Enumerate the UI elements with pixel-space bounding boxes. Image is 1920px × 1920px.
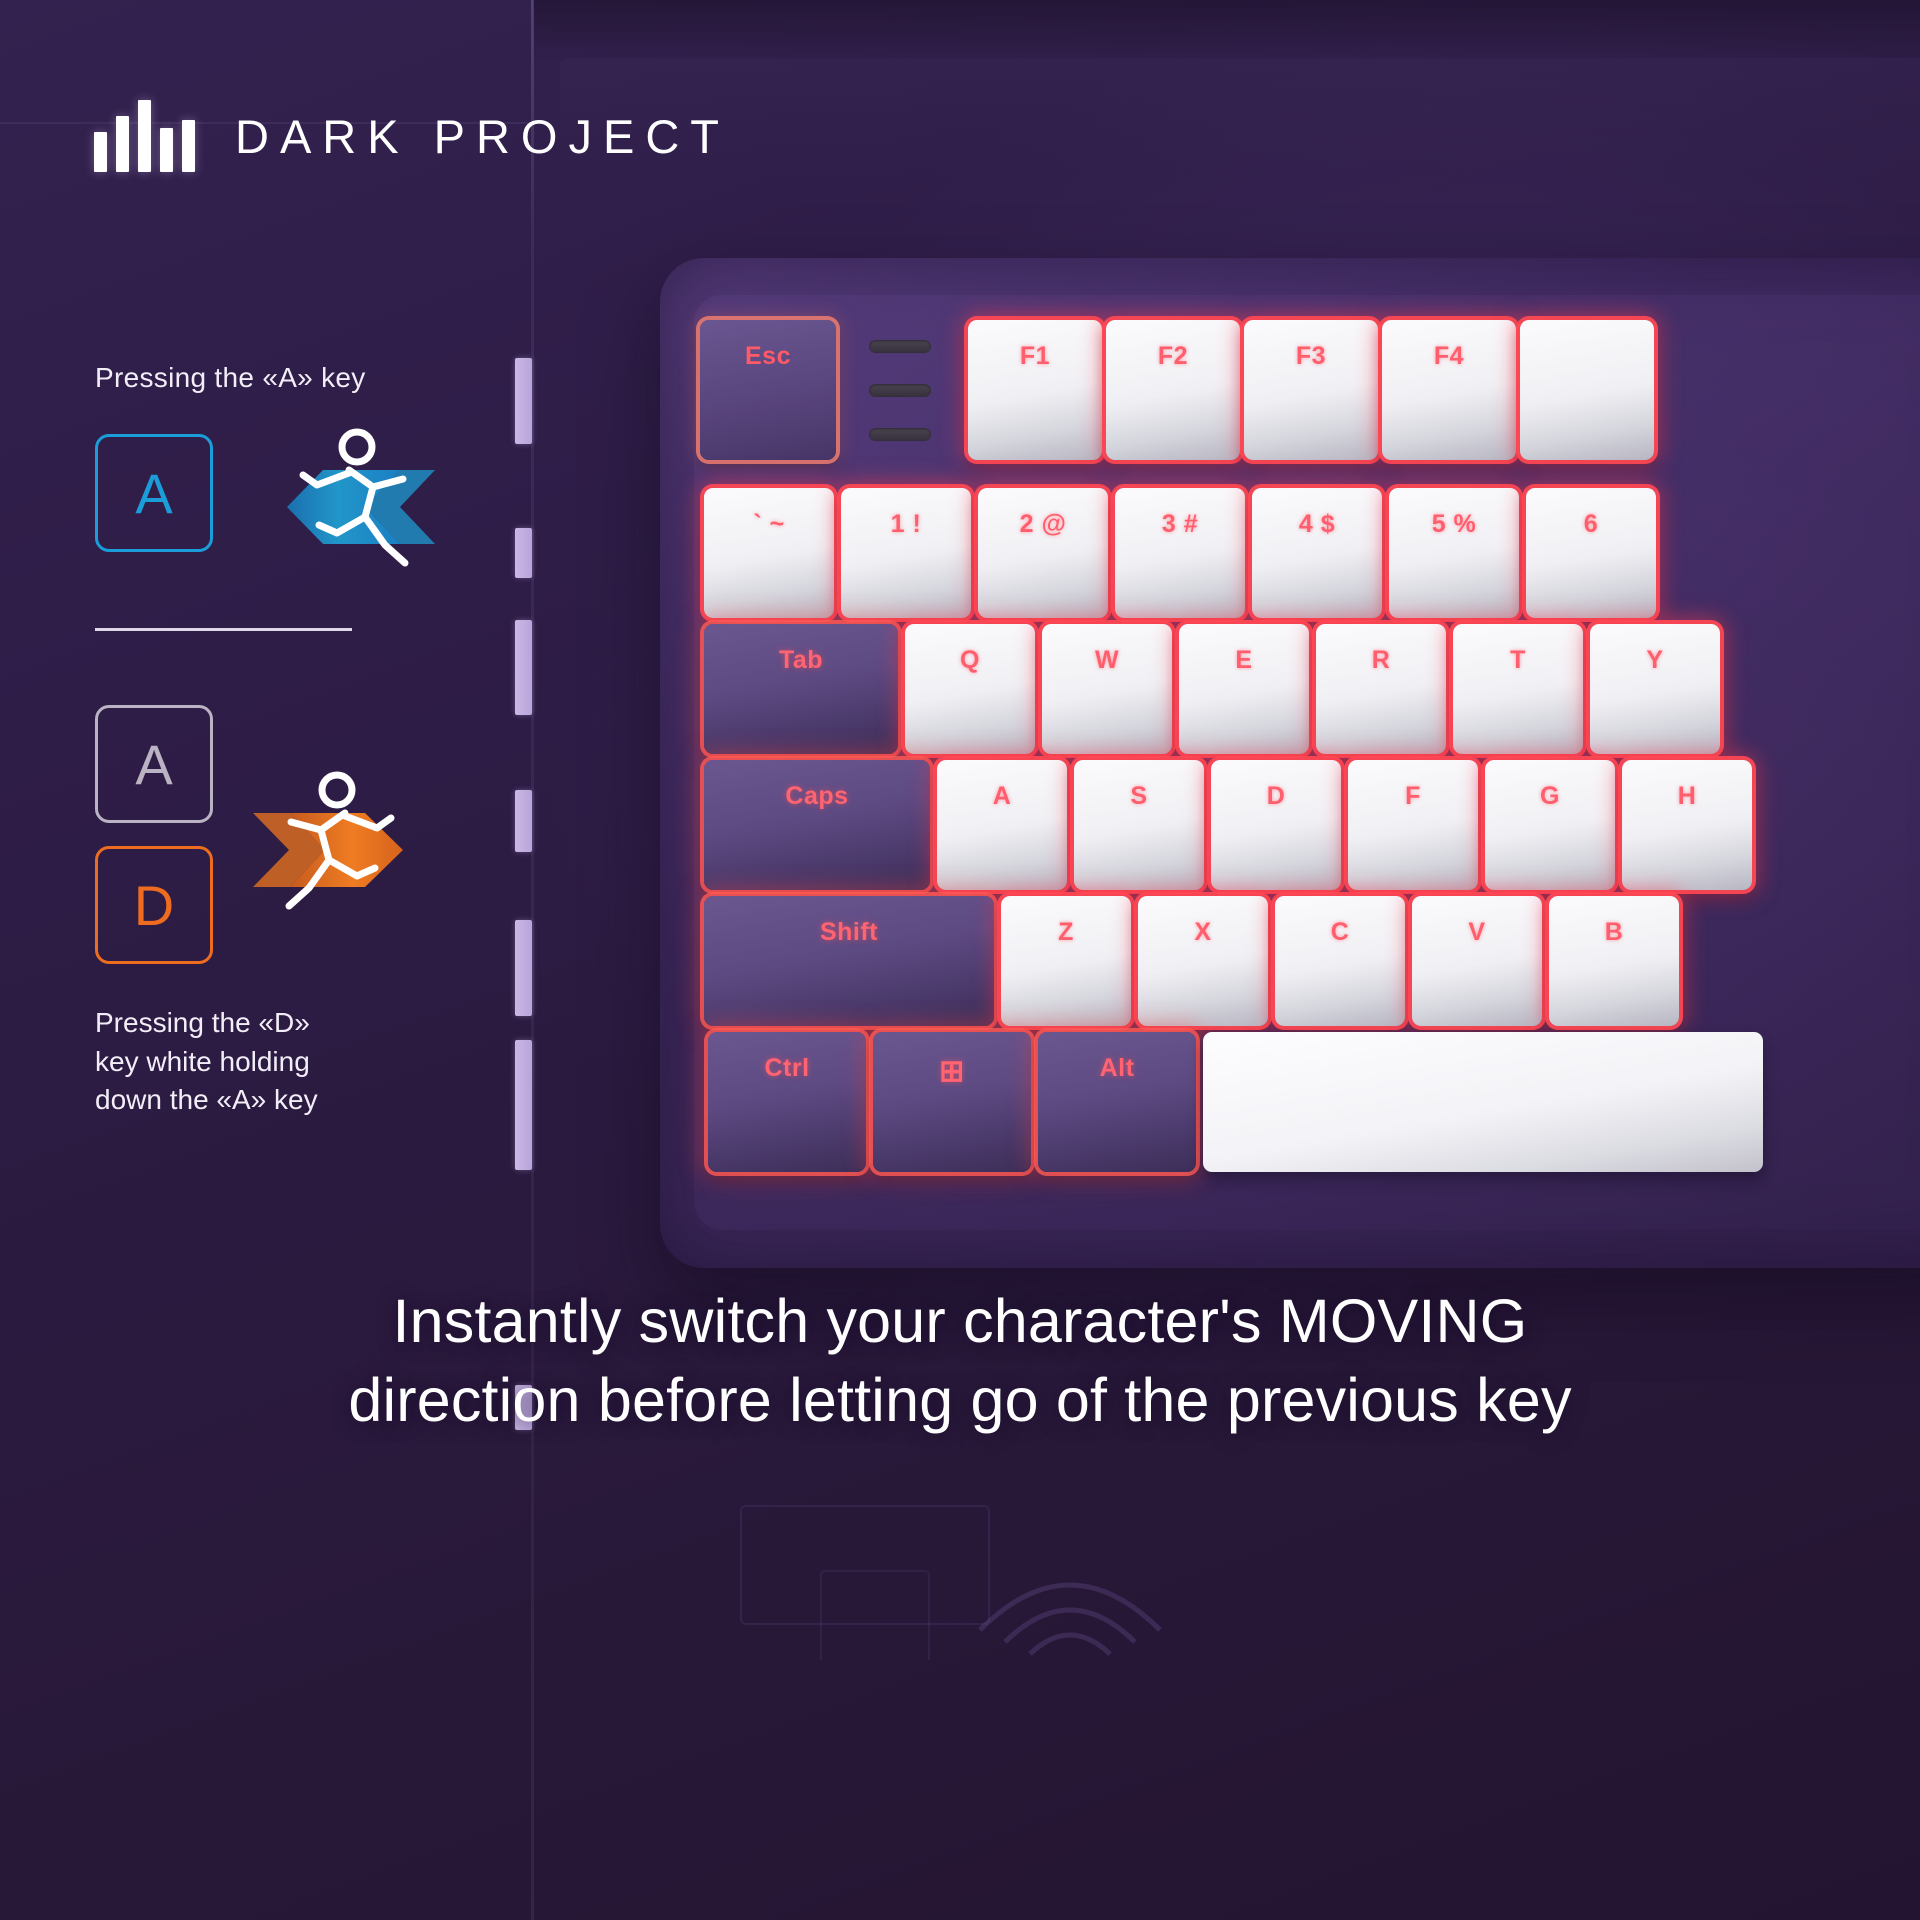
headline-line1: Instantly switch your character's MOVING (60, 1282, 1860, 1361)
key-1[interactable]: 1 ! (841, 488, 971, 618)
key-r[interactable]: R (1316, 624, 1446, 754)
background-engraving-box-inner (820, 1570, 930, 1660)
seam-tick (515, 528, 532, 578)
key-f[interactable]: F (1348, 760, 1478, 890)
press-d-label-line2: key white holding (95, 1043, 425, 1082)
press-a-label: Pressing the «A» key (95, 362, 366, 394)
key-5[interactable]: 5 % (1389, 488, 1519, 618)
key-t[interactable]: T (1453, 624, 1583, 754)
seam-tick (515, 620, 532, 715)
key-b[interactable]: B (1549, 896, 1679, 1026)
key-f3[interactable]: F3 (1244, 320, 1378, 460)
key-f4[interactable]: F4 (1382, 320, 1516, 460)
key-g[interactable]: G (1485, 760, 1615, 890)
key-x[interactable]: X (1138, 896, 1268, 1026)
key-esc[interactable]: Esc (700, 320, 836, 460)
seam-tick (515, 1040, 532, 1170)
key-blank[interactable] (1520, 320, 1654, 460)
top-bezel-panel-secondary (560, 58, 1920, 178)
runner-left-arrow-icon (245, 425, 445, 590)
seam-tick (515, 920, 532, 1016)
key-4[interactable]: 4 $ (1252, 488, 1382, 618)
key-6[interactable]: 6 (1526, 488, 1656, 618)
key-a-blue[interactable]: A (95, 434, 213, 552)
left-info-panel: Pressing the «A» key A (0, 0, 533, 1920)
key-3[interactable]: 3 # (1115, 488, 1245, 618)
seam-tick (515, 790, 532, 852)
indicator-pill-2 (869, 384, 931, 397)
key-c[interactable]: C (1275, 896, 1405, 1026)
key-f1[interactable]: F1 (968, 320, 1102, 460)
seam-tick (515, 358, 532, 444)
headline: Instantly switch your character's MOVING… (0, 1282, 1920, 1441)
headline-line2: direction before letting go of the previ… (60, 1361, 1860, 1440)
indicator-pill-1 (869, 340, 931, 353)
key-ctrl[interactable]: Ctrl (708, 1032, 866, 1172)
key-e[interactable]: E (1179, 624, 1309, 754)
press-d-label: Pressing the «D» key white holding down … (95, 1004, 425, 1120)
key-a-gray[interactable]: A (95, 705, 213, 823)
key-blank[interactable]: ` ~ (704, 488, 834, 618)
key-caps[interactable]: Caps (704, 760, 930, 890)
runner-right-arrow-icon (245, 768, 445, 933)
key-q[interactable]: Q (905, 624, 1035, 754)
key-d[interactable]: D (1211, 760, 1341, 890)
key-s[interactable]: S (1074, 760, 1204, 890)
key-alt[interactable]: Alt (1038, 1032, 1196, 1172)
key-tab[interactable]: Tab (704, 624, 898, 754)
press-d-label-line1: Pressing the «D» (95, 1004, 425, 1043)
section-divider (95, 628, 352, 631)
key-v[interactable]: V (1412, 896, 1542, 1026)
key-z[interactable]: Z (1001, 896, 1131, 1026)
press-d-label-line3: down the «A» key (95, 1081, 425, 1120)
key-f2[interactable]: F2 (1106, 320, 1240, 460)
key-w[interactable]: W (1042, 624, 1172, 754)
key-d-orange[interactable]: D (95, 846, 213, 964)
top-bezel-panel (533, 0, 1920, 62)
key-y[interactable]: Y (1590, 624, 1720, 754)
indicator-pill-3 (869, 428, 931, 441)
key-shift[interactable]: Shift (704, 896, 994, 1026)
key-2[interactable]: 2 @ (978, 488, 1108, 618)
key-blank[interactable] (1203, 1032, 1763, 1172)
key-blank[interactable]: ⊞ (873, 1032, 1031, 1172)
key-h[interactable]: H (1622, 760, 1752, 890)
background-wifi-arcs-icon (960, 1500, 1180, 1660)
key-a[interactable]: A (937, 760, 1067, 890)
